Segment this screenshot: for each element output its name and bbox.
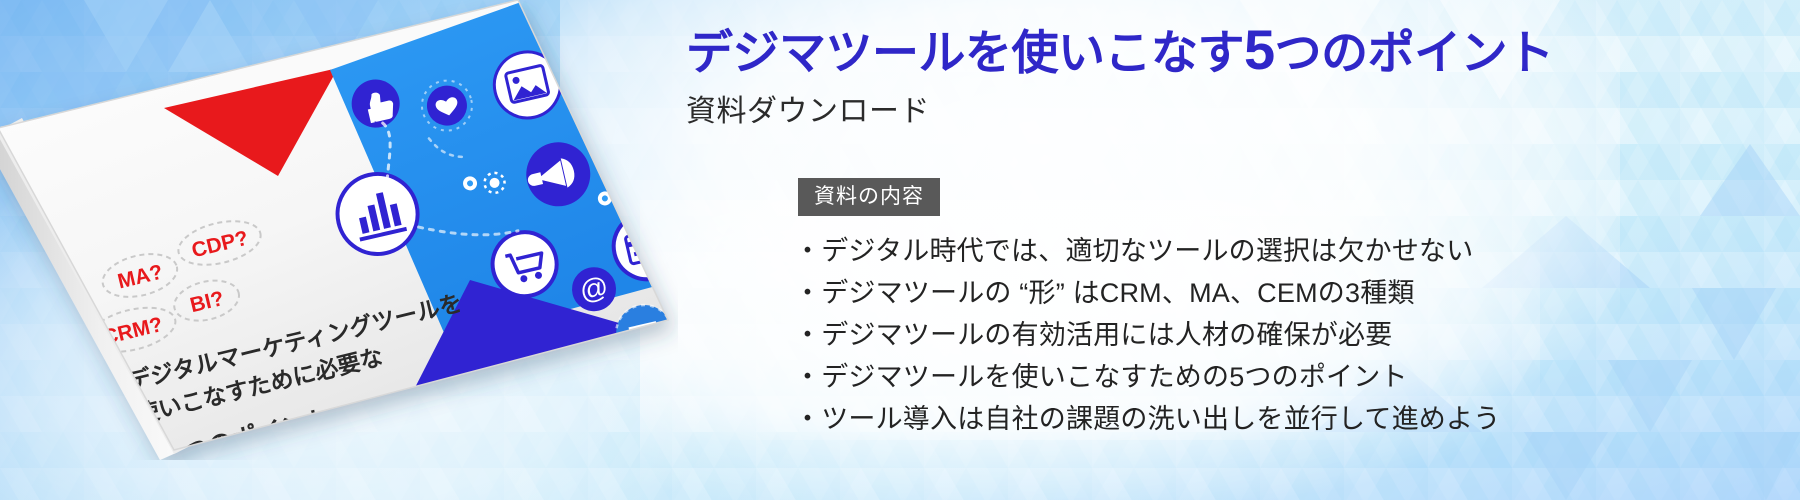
status-badge: 資料の内容: [798, 178, 940, 216]
ebook-cover-mockup: @: [0, 0, 678, 460]
subtitle: 資料ダウンロード: [686, 86, 1586, 130]
headline-number: 5: [1244, 18, 1275, 81]
headline-main: デジマツールを使いこなす: [686, 26, 1244, 79]
list-item: ・ツール導入は自社の課題の洗い出しを並行して進めよう: [794, 398, 1586, 440]
content-bullet-list: ・デジタル時代では、適切なツールの選択は欠かせない ・デジマツールの “形” は…: [794, 230, 1586, 441]
list-item: ・デジマツールの “形” はCRM、MA、CEMの3種類: [794, 272, 1586, 314]
page-title: デジマツールを使いこなす5つのポイント: [686, 22, 1586, 80]
list-item: ・デジマツールを使いこなすための5つのポイント: [794, 356, 1586, 398]
list-item: ・デジタル時代では、適切なツールの選択は欠かせない: [794, 230, 1586, 272]
download-banner: @: [0, 0, 1800, 500]
list-item: ・デジマツールの有効活用には人材の確保が必要: [794, 314, 1586, 356]
headline-tail: つのポイント: [1275, 26, 1554, 79]
copy-block: デジマツールを使いこなす5つのポイント 資料ダウンロード 資料の内容 ・デジタル…: [686, 22, 1586, 441]
